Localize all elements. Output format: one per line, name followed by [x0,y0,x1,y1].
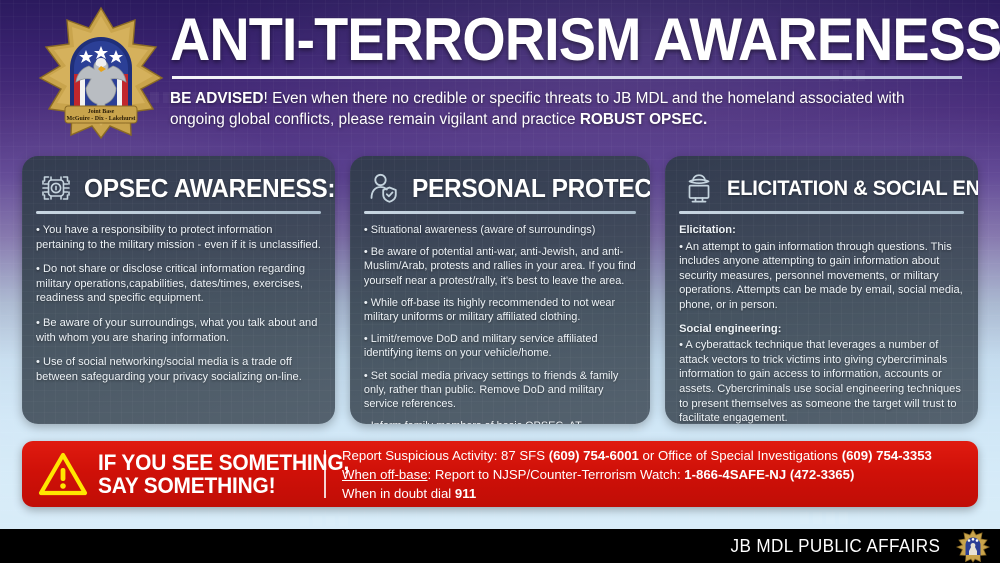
contact-line-onbase: Report Suspicious Activity: 87 SFS (609)… [342,446,978,465]
bullet-item: • Be aware of potential anti-war, anti-J… [364,245,636,288]
panel-divider [679,211,964,214]
bullet-item: • Do not share or disclose critical info… [36,262,321,306]
page-title: ANTI-TERRORISM AWARENESS (AT) [170,8,923,72]
bullet-item: • Situational awareness (aware of surrou… [364,223,636,237]
bullet-item: • A cyberattack technique that leverages… [679,338,964,424]
person-shield-check-icon [364,169,404,207]
svg-text:McGuire - Dix - Lakehurst: McGuire - Dix - Lakehurst [67,116,136,122]
bullet-item: • Set social media privacy settings to f… [364,369,636,412]
panel-divider [364,211,636,214]
panel-body: • You have a responsibility to protect i… [36,223,321,384]
alert-slogan-line2: SAY SOMETHING! [98,474,349,497]
bullet-item: • Inform family members of basic OPSEC, … [364,419,636,424]
lock-circuit-icon [36,169,76,207]
alert-banner: IF YOU SEE SOMETHING, SAY SOMETHING! Rep… [22,441,978,507]
contact-label-osi: or Office of Special Investigations [639,448,842,463]
panel-header: PERSONAL PROTECTION: [364,168,636,208]
section-heading: Elicitation: [679,223,964,238]
warning-triangle-icon [38,451,88,497]
panel-body: • Situational awareness (aware of surrou… [364,223,636,424]
monitor-spy-hat-icon [679,169,719,207]
panel-elicitation-social-engineering: ELICITATION & SOCIAL ENGINEERING: Elicit… [665,156,978,424]
contact-line-offbase: When off-base: Report to NJSP/Counter-Te… [342,465,978,484]
bullet-item: • While off-base its highly recommended … [364,296,636,324]
offbase-label: When off-base [342,467,428,482]
bullet-item: • Use of social networking/social media … [36,355,321,384]
subtitle-emphasis: ROBUST OPSEC. [580,111,707,128]
alert-slogan-group: IF YOU SEE SOMETHING, SAY SOMETHING! [22,451,324,497]
joint-base-seal-icon: Joint Base McGuire - Dix - Lakehurst [34,6,168,140]
bullet-item: • You have a responsibility to protect i… [36,223,321,252]
offbase-desc: : Report to NJSP/Counter-Terrorism Watch… [428,467,685,482]
title-divider [172,76,962,79]
panel-opsec-awareness: OPSEC AWARENESS: • You have a responsibi… [22,156,335,424]
panel-header: ELICITATION & SOCIAL ENGINEERING: [679,168,964,208]
joint-base-seal-small-icon [956,529,990,563]
phone-911[interactable]: 911 [455,486,476,501]
subtitle-lead: BE ADVISED [170,90,264,107]
section-heading: Social engineering: [679,322,964,337]
panel-personal-protection: PERSONAL PROTECTION: • Situational aware… [350,156,650,424]
bullet-item: • Be aware of your surroundings, what yo… [36,316,321,345]
contact-label: Report Suspicious Activity: 87 SFS [342,448,549,463]
footer-label: JB MDL PUBLIC AFFAIRS [731,536,941,557]
svg-text:Joint Base: Joint Base [88,109,115,115]
panel-body: Elicitation: • An attempt to gain inform… [679,223,964,424]
panel-title: ELICITATION & SOCIAL ENGINEERING: [727,174,978,202]
alert-slogan-line1: IF YOU SEE SOMETHING, [98,451,349,474]
phone-87sfs[interactable]: (609) 754-6001 [549,448,639,463]
phone-njsp[interactable]: 1-866-4SAFE-NJ (472-3365) [684,467,854,482]
alert-contact-info: Report Suspicious Activity: 87 SFS (609)… [326,446,978,503]
panel-title: OPSEC AWARENESS: [84,174,335,202]
bullet-item: • An attempt to gain information through… [679,240,964,313]
phone-osi[interactable]: (609) 754-3353 [842,448,932,463]
alert-slogan-text: IF YOU SEE SOMETHING, SAY SOMETHING! [98,451,362,497]
subtitle-rest: ! Even when there no credible or specifi… [170,90,905,128]
panel-divider [36,211,321,214]
panel-header: OPSEC AWARENESS: [36,168,321,208]
subtitle-advisory: BE ADVISED! Even when there no credible … [170,88,960,130]
panels-row: OPSEC AWARENESS: • You have a responsibi… [22,156,978,424]
poster-footer: JB MDL PUBLIC AFFAIRS [0,529,1000,563]
infographic-poster: Joint Base McGuire - Dix - Lakehurst ANT… [0,0,1000,563]
poster-header: Joint Base McGuire - Dix - Lakehurst ANT… [0,0,1000,142]
contact-line-emergency: When in doubt dial 911 [342,484,978,503]
emergency-label: When in doubt dial [342,486,455,501]
panel-title: PERSONAL PROTECTION: [412,174,650,202]
bullet-item: • Limit/remove DoD and military service … [364,332,636,360]
